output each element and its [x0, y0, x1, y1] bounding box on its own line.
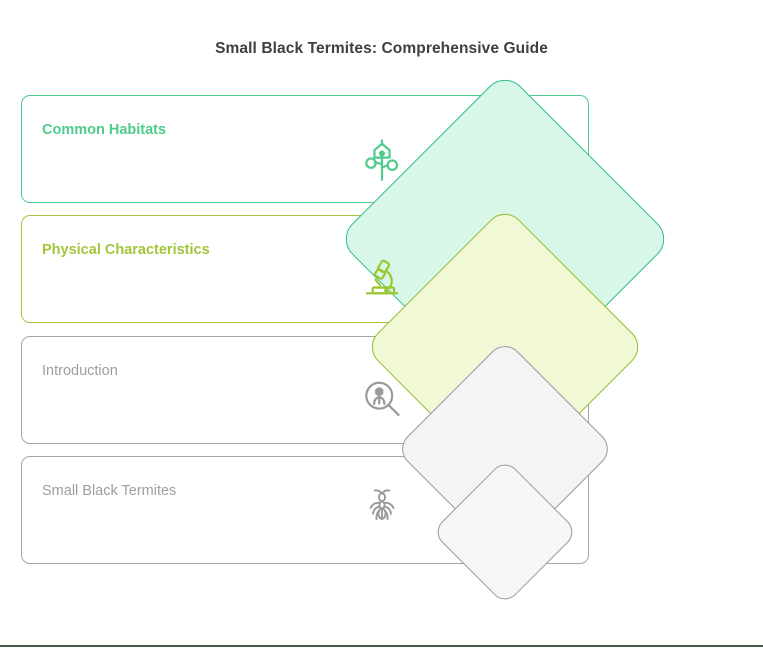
card-label: Physical Characteristics: [42, 242, 210, 258]
card-label: Small Black Termites: [42, 483, 176, 499]
card-label: Introduction: [42, 363, 118, 379]
card-label: Common Habitats: [42, 122, 166, 138]
page-title: Small Black Termites: Comprehensive Guid…: [0, 40, 763, 58]
bottom-rule: [0, 645, 763, 647]
infographic-canvas: Small Black Termites: Comprehensive Guid…: [0, 0, 763, 652]
